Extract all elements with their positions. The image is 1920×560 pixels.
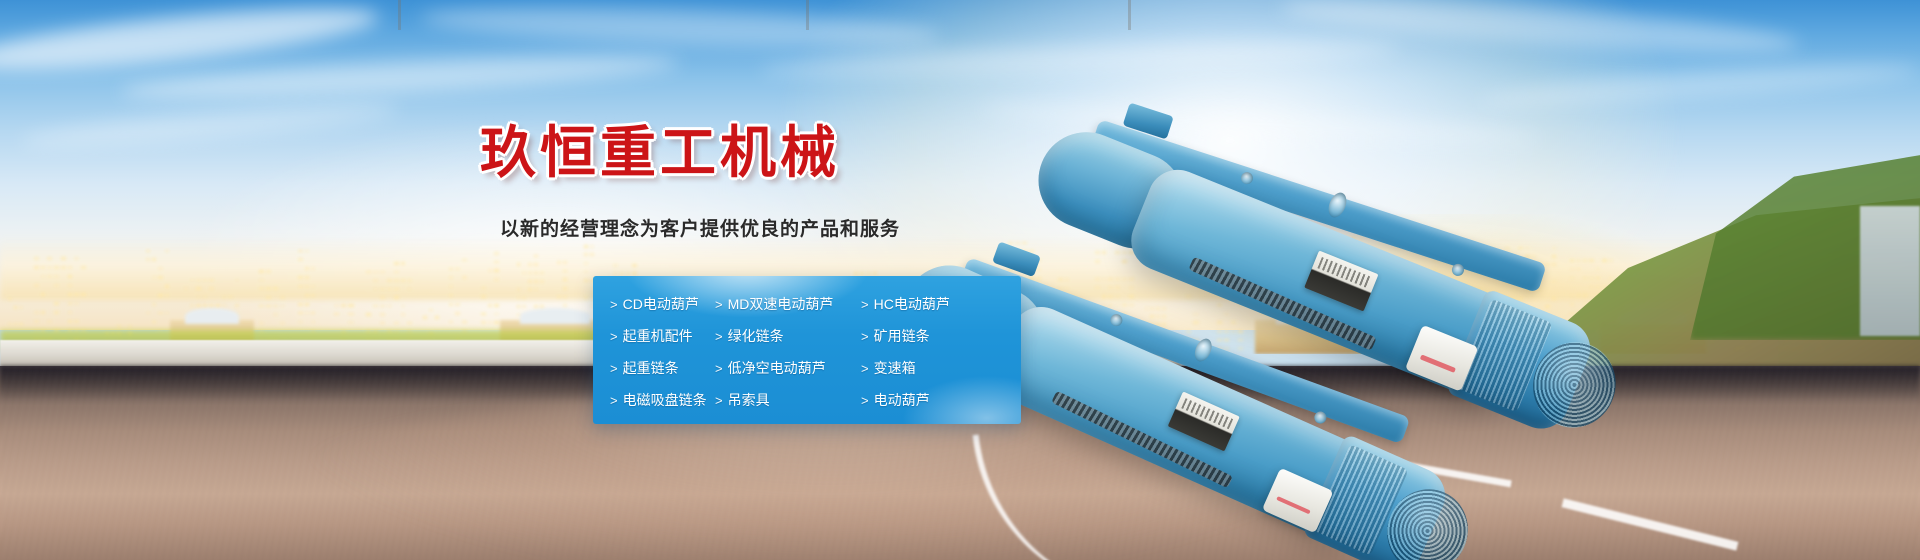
chevron-right-icon: > xyxy=(715,394,723,407)
product-link-label: MD双速电动葫芦 xyxy=(728,294,834,314)
page-subtitle: 以新的经营理念为客户提供优良的产品和服务 xyxy=(500,214,900,241)
product-link-label: 电动葫芦 xyxy=(874,390,930,410)
barrier-seam xyxy=(806,0,809,30)
product-link-label: 起重链条 xyxy=(623,358,679,378)
product-link[interactable]: >电动葫芦 xyxy=(861,390,1011,410)
product-links-panel: >CD电动葫芦>MD双速电动葫芦>HC电动葫芦>起重机配件>绿化链条>矿用链条>… xyxy=(593,276,1021,424)
product-link[interactable]: >低净空电动葫芦 xyxy=(715,358,861,378)
product-link[interactable]: >起重机配件 xyxy=(593,326,715,346)
product-link-label: 低净空电动葫芦 xyxy=(728,358,826,378)
chevron-right-icon: > xyxy=(861,362,869,375)
product-link-label: 起重机配件 xyxy=(623,326,693,346)
chevron-right-icon: > xyxy=(861,298,869,311)
product-link[interactable]: >矿用链条 xyxy=(861,326,1011,346)
product-link[interactable]: >CD电动葫芦 xyxy=(593,294,715,314)
product-link-label: 电磁吸盘链条 xyxy=(623,390,707,410)
product-links-row: >起重链条>低净空电动葫芦>变速箱 xyxy=(593,352,1021,384)
product-link-label: 矿用链条 xyxy=(874,326,930,346)
product-link[interactable]: >MD双速电动葫芦 xyxy=(715,294,861,314)
barrier-seam xyxy=(398,0,401,30)
product-link[interactable]: >起重链条 xyxy=(593,358,715,378)
chevron-right-icon: > xyxy=(715,330,723,343)
chevron-right-icon: > xyxy=(610,330,618,343)
promo-banner: 玖恒重工机械 以新的经营理念为客户提供优良的产品和服务 >CD电动葫芦>MD双速… xyxy=(0,0,1920,560)
chevron-right-icon: > xyxy=(715,298,723,311)
product-link[interactable]: >绿化链条 xyxy=(715,326,861,346)
product-link[interactable]: >HC电动葫芦 xyxy=(861,294,1011,314)
product-link-label: 绿化链条 xyxy=(728,326,784,346)
product-links-row: >CD电动葫芦>MD双速电动葫芦>HC电动葫芦 xyxy=(593,288,1021,320)
page-title: 玖恒重工机械 xyxy=(480,108,840,189)
chevron-right-icon: > xyxy=(610,362,618,375)
chevron-right-icon: > xyxy=(861,394,869,407)
chevron-right-icon: > xyxy=(610,298,618,311)
product-link[interactable]: >吊索具 xyxy=(715,390,861,410)
chevron-right-icon: > xyxy=(861,330,869,343)
product-link-label: 变速箱 xyxy=(874,358,916,378)
product-link[interactable]: >变速箱 xyxy=(861,358,1011,378)
chevron-right-icon: > xyxy=(610,394,618,407)
product-link-label: CD电动葫芦 xyxy=(623,294,699,314)
product-links-row: >电磁吸盘链条>吊索具>电动葫芦 xyxy=(593,384,1021,416)
chevron-right-icon: > xyxy=(715,362,723,375)
distant-tower xyxy=(1860,206,1920,336)
product-link[interactable]: >电磁吸盘链条 xyxy=(593,390,715,410)
product-links-grid: >CD电动葫芦>MD双速电动葫芦>HC电动葫芦>起重机配件>绿化链条>矿用链条>… xyxy=(593,288,1021,416)
product-links-row: >起重机配件>绿化链条>矿用链条 xyxy=(593,320,1021,352)
barrier-seam xyxy=(1128,0,1131,30)
product-link-label: HC电动葫芦 xyxy=(874,294,950,314)
product-link-label: 吊索具 xyxy=(728,390,770,410)
